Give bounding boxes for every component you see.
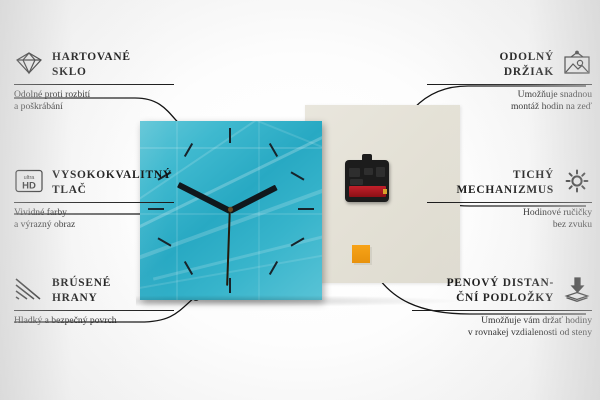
gear-icon xyxy=(562,168,592,194)
feature-title: TICHÝ MECHANIZMUS xyxy=(457,168,554,198)
feature-silent-mechanism: TICHÝ MECHANIZMUS Hodinové ručičky bez z… xyxy=(427,168,592,232)
feature-title: PENOVÝ DISTAN- ČNÍ PODLOŽKY xyxy=(447,276,554,306)
battery xyxy=(349,186,386,197)
feature-desc: Hodinové ručičky bez zvuku xyxy=(427,207,592,232)
feature-desc: Hladký a bezpečný povrch xyxy=(14,315,174,327)
feature-desc: Vividné farby a výrazný obraz xyxy=(14,207,174,232)
tick-6 xyxy=(229,278,231,293)
feature-ground-edges: BRÚSENÉ HRANY Hladký a bezpečný povrch xyxy=(14,276,174,327)
divider xyxy=(14,84,174,85)
product-photo xyxy=(140,105,460,300)
feature-title: HARTOVANÉ SKLO xyxy=(52,50,131,80)
feature-desc: Odolné proti rozbití a poškrábání xyxy=(14,89,174,114)
feature-desc: Umožňuje snadnou montáž hodin na zeď xyxy=(427,89,592,114)
feature-foam-spacers: PENOVÝ DISTAN- ČNÍ PODLOŽKY Umožňuje vám… xyxy=(412,276,592,340)
mechanism-shaft xyxy=(362,154,372,162)
tick-12 xyxy=(229,128,231,143)
clock-hub xyxy=(228,207,233,212)
feature-tempered-glass: HARTOVANÉ SKLO Odolné proti rozbití a po… xyxy=(14,50,174,114)
ultra-hd-icon: ultra HD xyxy=(14,168,44,194)
feature-title: VYSOKOKVALITNÝ TLAČ xyxy=(52,168,172,198)
tick-3 xyxy=(298,208,314,210)
divider xyxy=(412,310,592,311)
feature-desc: Umožňuje vám držať hodiny v rovnakej vzd… xyxy=(412,315,592,340)
clock-mechanism xyxy=(345,160,389,202)
stacked-pad-down-arrow-icon xyxy=(562,276,592,302)
divider xyxy=(427,84,592,85)
foam-spacer-pad xyxy=(352,245,370,263)
picture-hanger-icon xyxy=(562,50,592,76)
feature-durable-holder: ODOLNÝ DRŽIAK Umožňuje snadnou montáž ho… xyxy=(427,50,592,114)
hatched-edge-icon xyxy=(14,276,44,302)
divider xyxy=(14,310,174,311)
svg-text:HD: HD xyxy=(22,181,36,192)
divider xyxy=(14,202,174,203)
divider xyxy=(427,202,592,203)
infographic-canvas: HARTOVANÉ SKLO Odolné proti rozbití a po… xyxy=(0,0,600,400)
diamond-icon xyxy=(14,50,44,76)
feature-high-quality-print: ultra HD VYSOKOKVALITNÝ TLAČ Vividné far… xyxy=(14,168,174,232)
feature-title: ODOLNÝ DRŽIAK xyxy=(500,50,555,80)
feature-title: BRÚSENÉ HRANY xyxy=(52,276,111,306)
